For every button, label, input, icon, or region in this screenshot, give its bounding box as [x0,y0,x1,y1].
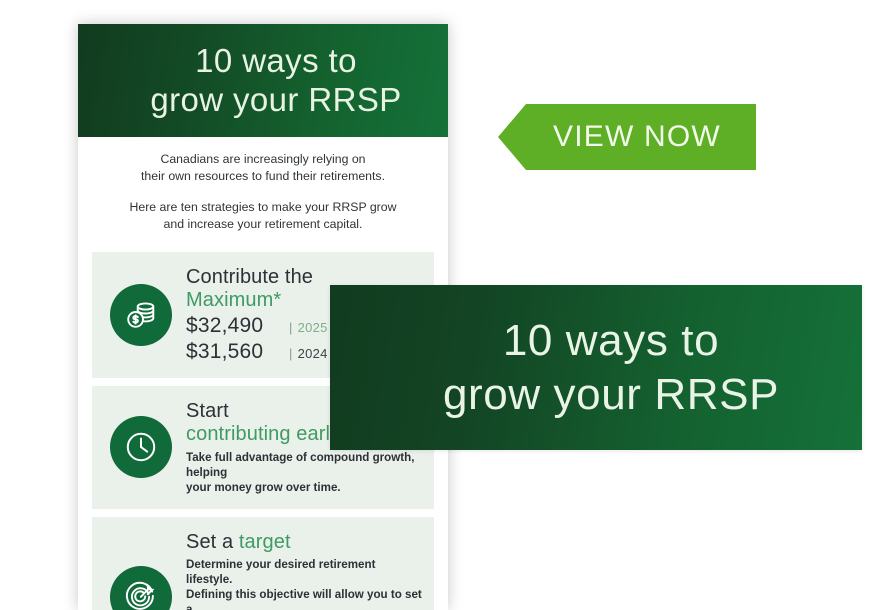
banner-title: 10 ways to grow your RRSP [413,314,779,421]
tip-card-title-line1: Start [186,400,229,422]
rrsp-banner-panel[interactable]: 10 ways to grow your RRSP [330,285,862,450]
infographic-header-title: 10 ways to grow your RRSP [124,42,401,120]
view-now-button[interactable]: VIEW NOW [498,104,756,170]
tip-card-description: Determine your desired retirement lifest… [186,557,424,610]
contribution-amount: $32,490 [186,314,282,338]
contribution-amount: $31,560 [186,340,282,364]
amount-separator: | [289,346,293,361]
coins-icon [110,284,172,346]
screenshot-canvas: 10 ways to grow your RRSP Canadians are … [0,0,893,610]
intro-paragraph-2: Here are ten strategies to make your RRS… [106,199,420,234]
intro-paragraph-1: Canadians are increasingly relying on th… [106,151,420,186]
amount-separator: | [289,320,293,335]
clock-icon [110,416,172,478]
view-now-label: VIEW NOW [553,120,721,154]
target-icon [110,566,172,610]
tip-card-title-line1: Set a [186,531,233,553]
tip-card[interactable]: Set a target Determine your desired reti… [92,517,434,610]
tip-card-body: Set a target Determine your desired reti… [186,531,424,610]
tip-card-title-line1: Contribute the [186,266,313,288]
tip-card-title-line2: contributing early [186,423,340,445]
tip-card-description: Take full advantage of compound growth, … [186,450,424,495]
tip-card-title-line2: target [239,531,291,553]
tip-card-title-line2: Maximum* [186,289,281,311]
tip-card-title: Set a target [186,531,424,554]
intro-section: Canadians are increasingly relying on th… [78,137,448,244]
infographic-header: 10 ways to grow your RRSP [78,24,448,137]
